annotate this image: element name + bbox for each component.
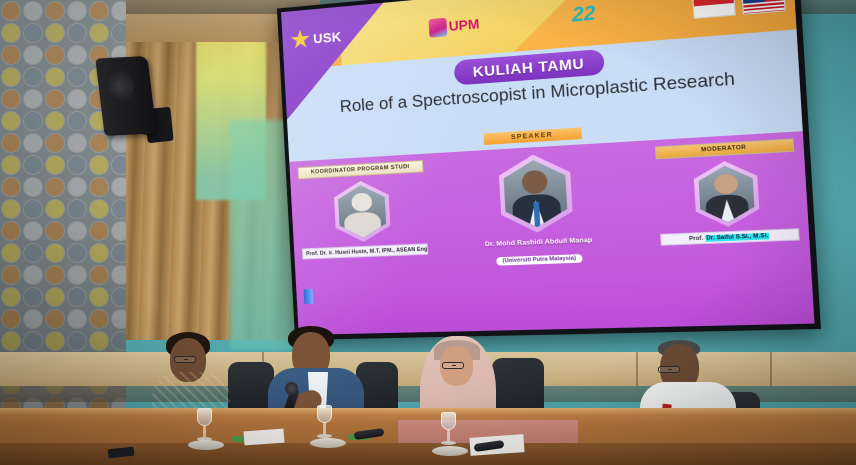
glass-foot (441, 441, 456, 445)
upm-emblem-icon (428, 18, 447, 38)
glass-stem (203, 426, 206, 437)
glass-stem (447, 430, 450, 441)
coordinator-ribbon: KOORDINATOR PROGRAM STUDI (297, 160, 423, 179)
moderator-photo (698, 164, 756, 223)
speaker-photo-frame (497, 153, 573, 234)
moderator-name-prefix: Prof. (689, 235, 704, 242)
malaysia-flag (741, 0, 785, 14)
presentation-slide: USK UPM 22 KULIAH TAMU Role of a Spec (281, 0, 814, 335)
ledge-seam (636, 352, 638, 386)
coordinator-photo-frame (333, 179, 391, 243)
moderator-name-highlight: Dr. Saiful S.Si., M.Si. (705, 232, 770, 241)
glasses-icon (658, 366, 680, 373)
coordinator-face (351, 193, 372, 212)
upm-logo-text: UPM (448, 18, 479, 33)
seminar-room-scene: USK UPM 22 KULIAH TAMU Role of a Spec (0, 0, 856, 465)
glass-bowl (317, 405, 332, 423)
glass-bowl (197, 408, 212, 426)
glass-stem (323, 423, 326, 434)
display-status-led (304, 289, 314, 304)
table-edge (0, 408, 856, 414)
projection-screen[interactable]: USK UPM 22 KULIAH TAMU Role of a Spec (277, 0, 821, 340)
coordinator-panel: KOORDINATOR PROGRAM STUDI Prof. Dr. ir. … (297, 160, 428, 259)
speaker-cone-icon (104, 68, 136, 103)
coordinator-photo (337, 184, 387, 239)
glass-bowl (441, 412, 456, 430)
moderator-ribbon: MODERATOR (655, 138, 794, 159)
glasses-icon (442, 362, 464, 369)
speaker-name: Dr. Mohd Rashidi Abdull Manap (457, 233, 621, 250)
snack-plate (310, 438, 346, 448)
snack-plate (188, 440, 224, 450)
drinking-glass (440, 412, 457, 446)
flag-group (692, 0, 786, 18)
moderator-name: Prof. Dr. Saiful S.Si., M.Si. (660, 228, 800, 246)
coordinator-name: Prof. Dr. ir. Husni Husin, M.T, IPM., AS… (302, 243, 428, 259)
wall-speaker (95, 56, 157, 136)
coordinator-body (344, 212, 382, 239)
malaysia-flag-canton (742, 0, 764, 3)
snack-plate (432, 446, 468, 456)
anniversary-logo: 22 (572, 5, 597, 25)
ledge-seam (770, 352, 772, 386)
drinking-glass (196, 408, 213, 442)
star-icon (290, 29, 311, 51)
microphone-head-icon (285, 382, 298, 395)
speaker-photo (503, 158, 569, 228)
moderator-panel: MODERATOR Prof. Dr. Saiful S.Si., M.Si. (655, 138, 800, 245)
speaker-affiliation: (Universiti Putra Malaysia) (496, 254, 583, 266)
usk-logo-text: USK (313, 29, 342, 44)
speaker-face (521, 170, 548, 194)
moderator-face (714, 174, 738, 194)
papers (244, 429, 285, 446)
speaker-panel: Dr. Mohd Rashidi Abdull Manap (Universit… (452, 144, 622, 269)
drinking-glass (316, 405, 333, 439)
slide-body: KOORDINATOR PROGRAM STUDI Prof. Dr. ir. … (289, 131, 814, 335)
moderator-photo-frame (693, 159, 760, 228)
speaker-ribbon: SPEAKER (483, 127, 582, 145)
glasses-icon (174, 356, 196, 363)
anniversary-number: 22 (571, 3, 596, 27)
indonesia-flag (692, 0, 736, 18)
